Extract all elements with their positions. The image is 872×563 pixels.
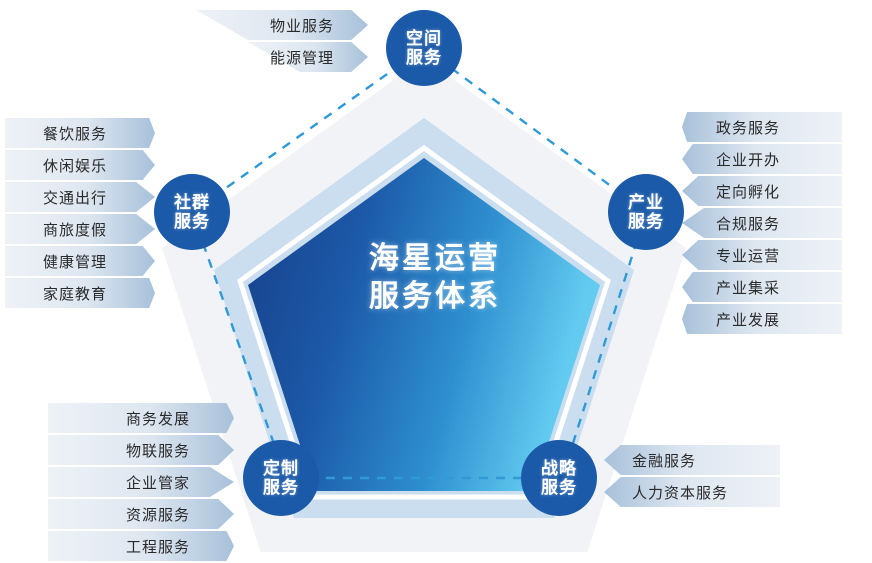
node-community-line1: 社群 [174, 193, 210, 212]
label-bar-text: 企业管家 [126, 472, 190, 493]
label-bar[interactable]: 资源服务 [48, 499, 234, 529]
label-bar[interactable]: 物联服务 [48, 435, 234, 465]
node-custom-line1: 定制 [263, 459, 299, 478]
center-title: 海星运营 服务体系 [310, 240, 560, 316]
label-bar[interactable]: 工程服务 [48, 531, 234, 561]
label-bar-text: 工程服务 [126, 536, 190, 557]
label-bar[interactable]: 能源管理 [196, 42, 368, 72]
label-bar-text: 企业开办 [716, 149, 780, 170]
label-group-right: 政务服务企业开办定向孵化合规服务专业运营产业集采产业发展 [682, 112, 842, 336]
label-bar-text: 健康管理 [43, 251, 107, 272]
label-bar[interactable]: 企业开办 [682, 144, 842, 174]
label-bar[interactable]: 产业发展 [682, 304, 842, 334]
label-bar[interactable]: 物业服务 [196, 10, 368, 40]
label-bar-text: 商务发展 [126, 408, 190, 429]
label-bar-text: 交通出行 [43, 187, 107, 208]
center-title-line2: 服务体系 [310, 278, 560, 316]
label-group-left: 餐饮服务休闲娱乐交通出行商旅度假健康管理家庭教育 [5, 118, 155, 310]
node-strategy-line2: 服务 [541, 478, 577, 497]
label-bar-text: 物联服务 [126, 440, 190, 461]
node-industry-line1: 产业 [628, 193, 664, 212]
label-bar-text: 专业运营 [716, 245, 780, 266]
label-bar-text: 物业服务 [270, 15, 334, 36]
label-bar[interactable]: 健康管理 [5, 246, 155, 276]
label-bar-text: 产业集采 [716, 277, 780, 298]
node-custom-services[interactable]: 定制 服务 [243, 440, 319, 516]
label-bar-text: 产业发展 [716, 309, 780, 330]
label-bar-text: 能源管理 [270, 47, 334, 68]
label-bar-text: 家庭教育 [43, 283, 107, 304]
label-group-bottom-left: 商务发展物联服务企业管家资源服务工程服务 [48, 403, 234, 563]
label-group-bottom-right: 金融服务人力资本服务 [604, 445, 780, 509]
label-bar[interactable]: 金融服务 [604, 445, 780, 475]
label-bar[interactable]: 商务发展 [48, 403, 234, 433]
label-group-top: 物业服务能源管理 [196, 10, 368, 74]
node-community-services[interactable]: 社群 服务 [154, 174, 230, 250]
label-bar[interactable]: 政务服务 [682, 112, 842, 142]
label-bar[interactable]: 家庭教育 [5, 278, 155, 308]
label-bar[interactable]: 商旅度假 [5, 214, 155, 244]
node-strategy-line1: 战略 [541, 459, 577, 478]
label-bar-text: 资源服务 [126, 504, 190, 525]
label-bar[interactable]: 企业管家 [48, 467, 234, 497]
node-community-line2: 服务 [174, 212, 210, 231]
center-title-line1: 海星运营 [310, 240, 560, 278]
label-bar-text: 商旅度假 [43, 219, 107, 240]
diagram-canvas: 空间 服务 社群 服务 产业 服务 定制 服务 战略 服务 海星运营 服务体系 … [0, 0, 872, 552]
node-industry-services[interactable]: 产业 服务 [608, 174, 684, 250]
node-space-line2: 服务 [406, 48, 442, 67]
label-bar-text: 政务服务 [716, 117, 780, 138]
label-bar-text: 休闲娱乐 [43, 155, 107, 176]
node-strategy-services[interactable]: 战略 服务 [521, 440, 597, 516]
label-bar-text: 人力资本服务 [632, 482, 728, 503]
label-bar-text: 定向孵化 [716, 181, 780, 202]
label-bar[interactable]: 人力资本服务 [604, 477, 780, 507]
label-bar-text: 合规服务 [716, 213, 780, 234]
label-bar[interactable]: 交通出行 [5, 182, 155, 212]
label-bar[interactable]: 休闲娱乐 [5, 150, 155, 180]
label-bar-text: 金融服务 [632, 450, 696, 471]
node-custom-line2: 服务 [263, 478, 299, 497]
label-bar[interactable]: 产业集采 [682, 272, 842, 302]
label-bar[interactable]: 定向孵化 [682, 176, 842, 206]
node-space-services[interactable]: 空间 服务 [386, 10, 462, 86]
label-bar[interactable]: 餐饮服务 [5, 118, 155, 148]
label-bar-text: 餐饮服务 [43, 123, 107, 144]
label-bar[interactable]: 合规服务 [682, 208, 842, 238]
node-space-line1: 空间 [406, 29, 442, 48]
label-bar[interactable]: 专业运营 [682, 240, 842, 270]
node-industry-line2: 服务 [628, 212, 664, 231]
